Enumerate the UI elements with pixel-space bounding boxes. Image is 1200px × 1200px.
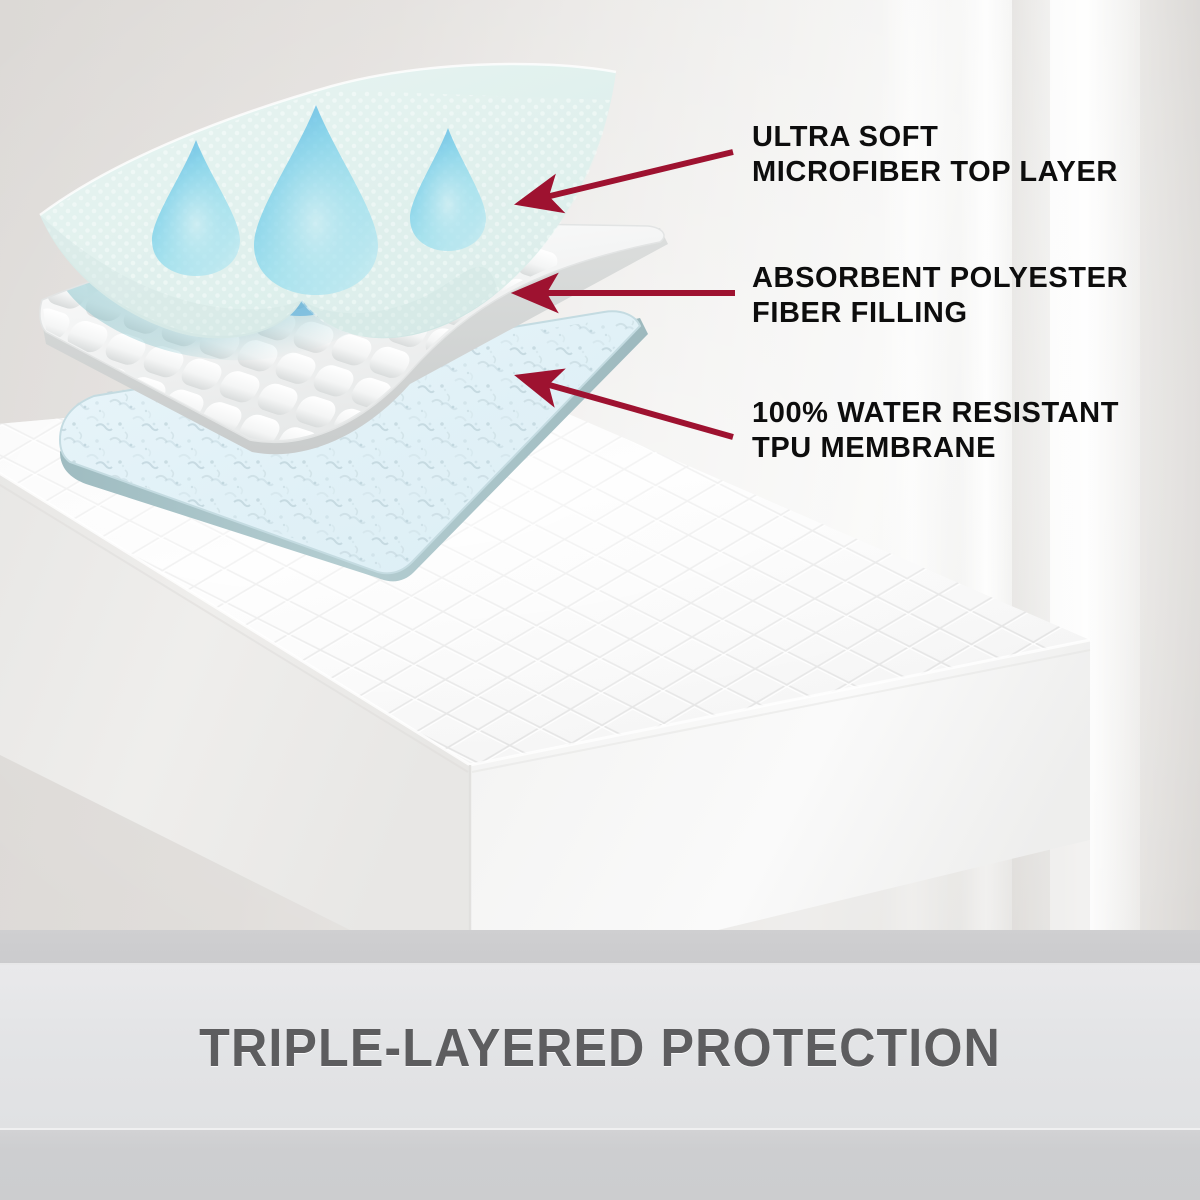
banner-top-divider [0,930,1200,965]
callout-arrow-top-layer [521,152,733,203]
callout-arrow-tpu-membrane [521,377,733,437]
callout-label-fiber-filling: ABSORBENT POLYESTER FIBER FILLING [752,261,1128,331]
callout-label-tpu-membrane: 100% WATER RESISTANT TPU MEMBRANE [752,396,1119,466]
callout-label-top-layer: ULTRA SOFT MICROFIBER TOP LAYER [752,120,1118,190]
banner-bottom-divider [0,1130,1200,1200]
banner: TRIPLE-LAYERED PROTECTION [0,965,1200,1130]
product-infographic: ULTRA SOFT MICROFIBER TOP LAYER ABSORBEN… [0,0,1200,1200]
banner-title: TRIPLE-LAYERED PROTECTION [199,1017,1001,1079]
